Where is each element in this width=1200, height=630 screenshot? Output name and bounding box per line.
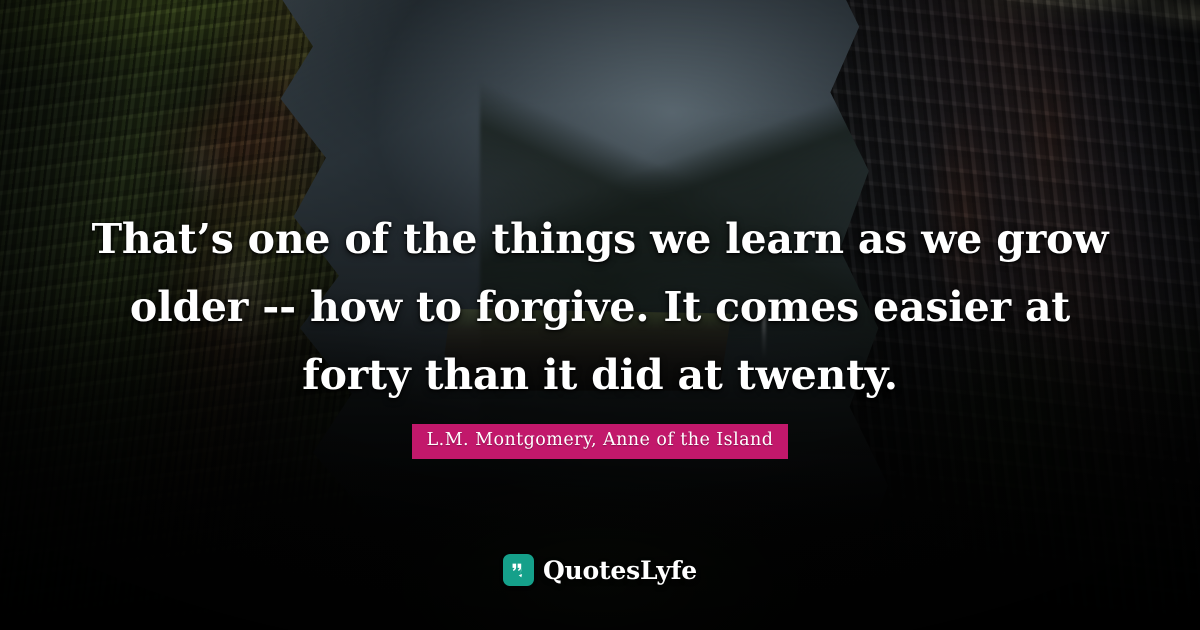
quote-text: That’s one of the things we learn as we …: [0, 205, 1200, 409]
quote-line-2: older -- how to forgive. It comes easier…: [72, 273, 1128, 341]
brand-name: QuotesLyfe: [543, 558, 697, 583]
attribution-row: L.M. Montgomery, Anne of the Island: [0, 424, 1200, 459]
card-content: That’s one of the things we learn as we …: [0, 0, 1200, 630]
quote-line-1: That’s one of the things we learn as we …: [72, 205, 1128, 273]
attribution-badge[interactable]: L.M. Montgomery, Anne of the Island: [412, 424, 789, 459]
quote-card: That’s one of the things we learn as we …: [0, 0, 1200, 630]
quote-line-3: forty than it did at twenty.: [72, 341, 1128, 409]
quote-mark-icon: [503, 554, 534, 586]
brand-logo[interactable]: QuotesLyfe: [0, 554, 1200, 586]
